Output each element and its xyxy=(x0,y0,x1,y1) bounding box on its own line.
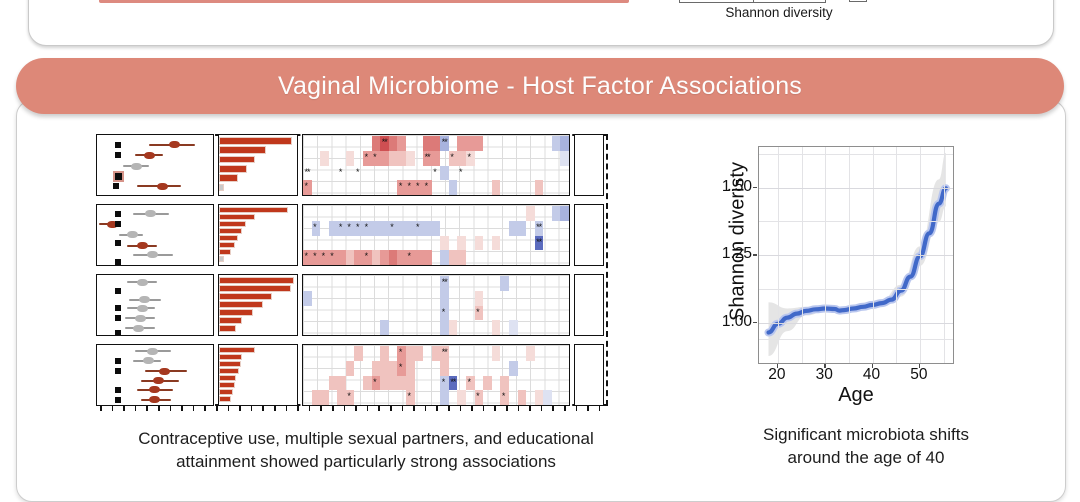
heatmap-cell xyxy=(337,376,346,391)
heatmap-cell xyxy=(492,320,501,335)
forest-point-estimate xyxy=(127,231,138,238)
caption-left: Contraceptive use, multiple sexual partn… xyxy=(86,428,646,474)
forest-reference-marker xyxy=(115,387,121,393)
significance-star: * xyxy=(425,182,428,191)
forest-point-estimate xyxy=(169,141,180,148)
heatmap-cell xyxy=(303,291,312,306)
effect-size-bar-pane xyxy=(218,204,298,266)
heatmap-cell xyxy=(457,236,466,251)
forest-reference-marker xyxy=(115,358,121,364)
legend-label-shannon-diversity: Shannon diversity xyxy=(679,5,879,20)
figure-panel-row: ********************* xyxy=(96,134,608,196)
significance-star: * xyxy=(407,252,410,261)
y-axis-tick-mark xyxy=(753,187,757,189)
heatmap-cell xyxy=(440,291,449,306)
association-heatmap-pane: ************* xyxy=(302,344,570,406)
heatmap-cell xyxy=(397,136,406,151)
y-gridline xyxy=(759,323,953,324)
significance-star: * xyxy=(356,168,359,177)
y-axis-tick-label: 1.25 xyxy=(700,245,752,263)
forest-reference-marker xyxy=(115,142,121,148)
effect-size-bar xyxy=(219,156,255,164)
significance-star: * xyxy=(339,168,342,177)
page-title: Vaginal Microbiome - Host Factor Associa… xyxy=(278,72,802,101)
effect-size-bar xyxy=(219,354,242,360)
heatmap-cell xyxy=(449,180,458,195)
forest-reference-marker xyxy=(115,221,121,227)
y-gridline-minor xyxy=(759,289,953,290)
forest-reference-marker xyxy=(115,330,121,336)
effect-size-bar xyxy=(219,277,294,284)
effect-size-bar xyxy=(219,146,266,154)
significance-star: * xyxy=(416,223,419,232)
heatmap-cell xyxy=(457,250,466,265)
significance-star: * xyxy=(502,392,505,401)
effect-size-bar xyxy=(219,207,288,213)
heatmap-cell xyxy=(320,151,329,166)
forest-reference-marker xyxy=(113,183,119,189)
x-axis-tick-label: 30 xyxy=(807,366,841,384)
forest-point-estimate xyxy=(133,325,144,332)
heatmap-cell xyxy=(406,376,415,391)
heatmap-cell xyxy=(440,361,449,376)
association-heatmap-pane: **** xyxy=(302,274,570,336)
forest-reference-marker xyxy=(115,173,122,180)
forest-point-estimate xyxy=(149,386,160,393)
heatmap-cell xyxy=(380,361,389,376)
association-heatmap-pane: ********************* xyxy=(302,134,570,196)
significance-star: ** xyxy=(536,223,541,232)
effect-size-bar xyxy=(219,368,239,374)
heatmap-cell xyxy=(526,206,535,221)
slide-title-banner: Vaginal Microbiome - Host Factor Associa… xyxy=(16,58,1064,114)
significance-star: * xyxy=(450,153,453,162)
y-axis-tick-label: 1.00 xyxy=(700,313,752,331)
effect-size-bar-pane xyxy=(218,134,298,196)
heatmap-cell xyxy=(329,376,338,391)
significance-star: * xyxy=(399,182,402,191)
heatmap-cell xyxy=(380,250,389,265)
significance-star: * xyxy=(322,252,325,261)
heatmap-cell xyxy=(535,390,544,405)
significance-star: * xyxy=(365,223,368,232)
forest-reference-marker xyxy=(115,152,121,158)
significance-star: * xyxy=(476,308,479,317)
significance-star: * xyxy=(468,378,471,387)
forest-point-estimate xyxy=(157,183,168,190)
significance-star: * xyxy=(305,252,308,261)
heatmap-cell xyxy=(389,151,398,166)
significance-star: * xyxy=(347,223,350,232)
forest-point-estimate xyxy=(159,368,170,375)
significance-star: * xyxy=(476,392,479,401)
heatmap-cell xyxy=(312,390,321,405)
heatmap-cell xyxy=(492,346,501,361)
effect-size-bar xyxy=(219,389,233,395)
significance-star: * xyxy=(399,348,402,357)
heatmap-cell xyxy=(354,346,363,361)
effect-size-bar xyxy=(219,174,238,182)
heatmap-cell xyxy=(457,136,466,151)
effect-size-bar xyxy=(219,382,235,388)
legend-swatch-box xyxy=(849,0,867,2)
heatmap-cell xyxy=(389,250,398,265)
significance-star: ** xyxy=(425,153,430,162)
significance-star: * xyxy=(313,252,316,261)
heatmap-gridlines xyxy=(303,275,569,335)
effect-size-bar xyxy=(219,375,236,381)
heatmap-cell xyxy=(543,390,552,405)
forest-point-estimate xyxy=(137,279,148,286)
significance-star: * xyxy=(373,153,376,162)
caption-left-line2: attainment showed particularly strong as… xyxy=(86,451,646,474)
heatmap-cell xyxy=(406,221,415,236)
heatmap-cell xyxy=(372,250,381,265)
forest-reference-marker xyxy=(115,315,121,321)
significance-star: * xyxy=(399,363,402,372)
heatmap-cell xyxy=(380,320,389,335)
x-axis-tick-label: 50 xyxy=(902,366,936,384)
x-axis-tick-label: 20 xyxy=(760,366,794,384)
heatmap-cell xyxy=(552,206,561,221)
heatmap-cell xyxy=(432,151,441,166)
significance-star: * xyxy=(347,392,350,401)
effect-size-bar xyxy=(219,256,224,262)
effect-size-bar xyxy=(219,228,242,234)
heatmap-cell xyxy=(389,361,398,376)
heatmap-cell xyxy=(518,390,527,405)
forest-point-estimate xyxy=(147,348,158,355)
heatmap-cell xyxy=(372,361,381,376)
forest-point-estimate xyxy=(153,377,164,384)
figure-panel-row: ************* xyxy=(96,344,608,406)
heatmap-cell xyxy=(509,221,518,236)
y-gridline-minor xyxy=(759,154,953,155)
significance-star: ** xyxy=(536,238,541,247)
previous-slide-card: Shannon diversity xyxy=(28,0,1054,46)
heatmap-cell xyxy=(380,221,389,236)
significance-star: * xyxy=(339,223,342,232)
significance-star: ** xyxy=(305,168,310,177)
heatmap-cell xyxy=(466,136,475,151)
forest-reference-marker xyxy=(115,240,121,246)
shannon-diversity-by-age-chart: Shannon diveristy Age 1.001.251.50203040… xyxy=(700,138,990,410)
effect-size-bar xyxy=(219,249,231,255)
effect-size-bar xyxy=(219,242,235,248)
x-axis-tick-mark xyxy=(872,364,874,368)
heatmap-cell xyxy=(397,151,406,166)
significance-star: * xyxy=(407,392,410,401)
forest-point-estimate xyxy=(137,305,148,312)
heatmap-cell xyxy=(483,376,492,391)
y-gridline xyxy=(759,188,953,189)
effect-size-bar xyxy=(219,214,255,220)
heatmap-cell xyxy=(380,151,389,166)
effect-size-bar-pane xyxy=(218,274,298,336)
effect-size-bar-pane xyxy=(218,344,298,406)
association-heatmap-pane: ***************** xyxy=(302,204,570,266)
y-gridline xyxy=(759,255,953,256)
heatmap-cell xyxy=(475,136,484,151)
heatmap-cell xyxy=(475,236,484,251)
heatmap-cell xyxy=(372,136,381,151)
heatmap-cell xyxy=(423,221,432,236)
forest-point-estimate xyxy=(139,296,150,303)
heatmap-cell xyxy=(440,320,449,335)
x-axis-tick-label: 40 xyxy=(855,366,889,384)
x-axis-tick-mark xyxy=(919,364,921,368)
heatmap-cell xyxy=(518,221,527,236)
heatmap-cell xyxy=(432,136,441,151)
blank-margin-pane xyxy=(574,344,604,406)
caption-right: Significant microbiota shifts around the… xyxy=(716,424,1016,470)
effect-size-bar xyxy=(219,285,291,292)
heatmap-cell xyxy=(492,236,501,251)
heatmap-cell xyxy=(397,250,406,265)
forest-point-estimate xyxy=(135,315,146,322)
heatmap-cell xyxy=(449,320,458,335)
x-axis-tick-mark xyxy=(777,364,779,368)
heatmap-cell xyxy=(500,376,509,391)
host-factor-association-figure: ****************************************… xyxy=(96,134,608,406)
effect-size-bar xyxy=(219,301,263,308)
significance-star: * xyxy=(442,378,445,387)
heatmap-cell xyxy=(552,136,561,151)
effect-size-bar xyxy=(219,221,246,227)
significance-star: ** xyxy=(442,278,447,287)
significance-star: ** xyxy=(442,138,447,147)
heatmap-cell xyxy=(440,166,449,181)
significance-star: * xyxy=(356,223,359,232)
heatmap-cell xyxy=(509,320,518,335)
significance-star: * xyxy=(416,182,419,191)
heatmap-cell xyxy=(457,151,466,166)
heatmap-cell xyxy=(560,136,569,151)
heatmap-cell xyxy=(354,250,363,265)
blank-margin-pane xyxy=(574,274,604,336)
forest-plot-pane xyxy=(96,204,214,266)
figure-panel-row: **** xyxy=(96,274,608,336)
forest-plot-pane xyxy=(96,274,214,336)
heatmap-cell xyxy=(457,390,466,405)
heatmap-cell xyxy=(432,221,441,236)
significance-star: ** xyxy=(450,378,455,387)
caption-right-line1: Significant microbiota shifts xyxy=(716,424,1016,447)
heatmap-cell xyxy=(415,346,424,361)
blank-margin-pane xyxy=(574,134,604,196)
heatmap-cell xyxy=(440,390,449,405)
significance-star: * xyxy=(468,153,471,162)
significance-star: * xyxy=(313,223,316,232)
forest-point-estimate xyxy=(147,251,158,258)
y-axis-tick-mark xyxy=(753,322,757,324)
effect-size-bar xyxy=(219,361,241,367)
significance-star: * xyxy=(365,153,368,162)
heatmap-cell xyxy=(475,291,484,306)
heatmap-cell xyxy=(526,346,535,361)
heatmap-cell xyxy=(423,136,432,151)
heatmap-cell xyxy=(380,346,389,361)
previous-slide-accent-bar xyxy=(99,0,629,3)
heatmap-cell xyxy=(346,361,355,376)
heatmap-cell xyxy=(329,221,338,236)
effect-size-bar xyxy=(219,325,236,332)
heatmap-cell xyxy=(560,206,569,221)
effect-size-bar xyxy=(219,347,255,353)
forest-point-estimate xyxy=(145,210,156,217)
forest-plot-pane xyxy=(96,134,214,196)
significance-star: ** xyxy=(382,138,387,147)
y-axis-tick-label: 1.50 xyxy=(700,178,752,196)
significance-star: * xyxy=(442,308,445,317)
significance-star: * xyxy=(390,223,393,232)
forest-reference-marker xyxy=(115,259,121,265)
significance-star: * xyxy=(407,182,410,191)
figure-panel-row: ***************** xyxy=(96,204,608,266)
forest-point-estimate xyxy=(143,357,154,364)
heatmap-cell xyxy=(346,250,355,265)
significance-star: * xyxy=(305,182,308,191)
heatmap-cell xyxy=(423,250,432,265)
forest-point-estimate xyxy=(137,242,148,249)
heatmap-cell xyxy=(449,250,458,265)
significance-star: * xyxy=(433,168,436,177)
heatmap-cell xyxy=(509,361,518,376)
heatmap-cell xyxy=(440,250,449,265)
heatmap-cell xyxy=(440,236,449,251)
figure-bottom-axis-ticks xyxy=(96,406,608,412)
heatmap-cell xyxy=(337,250,346,265)
significance-star: * xyxy=(365,252,368,261)
heatmap-cell xyxy=(320,390,329,405)
forest-reference-marker xyxy=(115,211,121,217)
effect-size-bar xyxy=(219,396,231,402)
legend-gradient-box xyxy=(679,0,826,3)
heatmap-cell xyxy=(415,250,424,265)
y-gridline-minor xyxy=(759,221,953,222)
forest-reference-marker xyxy=(115,288,121,294)
heatmap-cell xyxy=(397,376,406,391)
heatmap-cell xyxy=(397,221,406,236)
effect-size-bar xyxy=(219,293,272,300)
heatmap-cell xyxy=(380,376,389,391)
effect-size-bar xyxy=(219,165,247,173)
x-axis-tick-mark xyxy=(824,364,826,368)
caption-right-line2: around the age of 40 xyxy=(716,447,1016,470)
heatmap-cell xyxy=(372,221,381,236)
forest-point-estimate xyxy=(149,396,160,403)
forest-point-estimate xyxy=(131,163,142,170)
effect-size-bar xyxy=(219,235,238,241)
heatmap-cell xyxy=(389,376,398,391)
caption-left-line1: Contraceptive use, multiple sexual partn… xyxy=(86,428,646,451)
plot-area xyxy=(758,146,954,364)
heatmap-cell xyxy=(363,376,372,391)
forest-reference-marker xyxy=(115,397,121,403)
heatmap-cell xyxy=(432,346,441,361)
effect-size-bar xyxy=(219,309,253,316)
significance-star: * xyxy=(330,252,333,261)
blank-margin-pane xyxy=(574,204,604,266)
effect-size-bar xyxy=(219,184,224,192)
y-gridline-minor xyxy=(759,339,953,340)
x-axis-label: Age xyxy=(758,384,954,407)
forest-reference-marker xyxy=(115,368,121,374)
forest-point-estimate xyxy=(144,152,155,159)
heatmap-cell xyxy=(535,180,544,195)
heatmap-cell xyxy=(560,151,569,166)
significance-star: * xyxy=(373,378,376,387)
forest-reference-marker xyxy=(115,305,121,311)
heatmap-cell xyxy=(389,136,398,151)
y-axis-tick-mark xyxy=(753,254,757,256)
forest-plot-pane xyxy=(96,344,214,406)
heatmap-cell xyxy=(406,151,415,166)
heatmap-cell xyxy=(492,180,501,195)
effect-size-bar xyxy=(219,137,292,145)
heatmap-cell xyxy=(346,151,355,166)
heatmap-cell xyxy=(406,346,415,361)
significance-star: * xyxy=(459,168,462,177)
heatmap-cell xyxy=(406,361,415,376)
heatmap-cell xyxy=(337,390,346,405)
effect-size-bar xyxy=(219,317,242,324)
heatmap-cell xyxy=(500,276,509,291)
significance-star: ** xyxy=(442,348,447,357)
